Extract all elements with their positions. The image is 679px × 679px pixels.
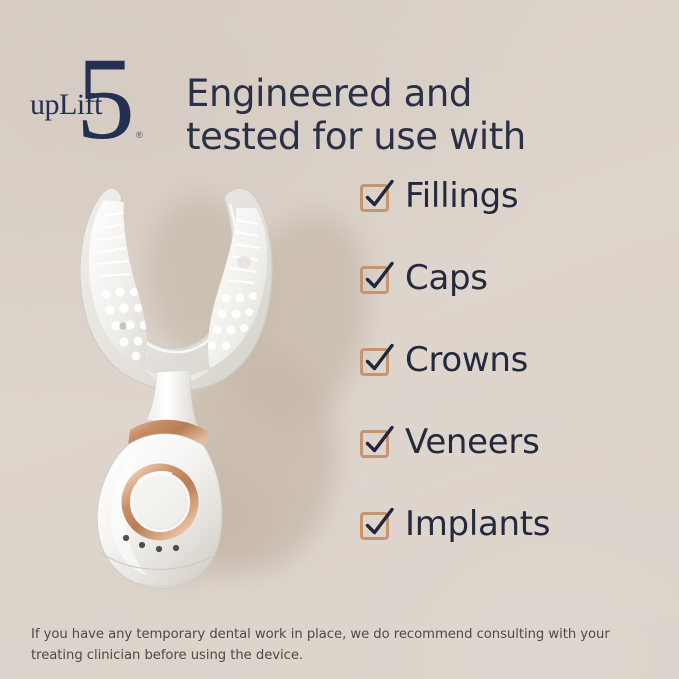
disclaimer-text: If you have any temporary dental work in… bbox=[31, 625, 643, 666]
list-item[interactable]: Veneers bbox=[361, 424, 661, 460]
logo-registered-mark: ® bbox=[136, 130, 143, 140]
list-item[interactable]: Fillings bbox=[361, 178, 661, 214]
brand-logo: 5 upLift ® bbox=[24, 34, 164, 146]
checkbox-checked-icon[interactable] bbox=[361, 510, 389, 538]
product-feature-card: 5 upLift ® Engineered and tested for use… bbox=[0, 0, 679, 679]
checkbox-checked-icon[interactable] bbox=[361, 264, 389, 292]
list-item-label: Caps bbox=[405, 261, 488, 295]
checkbox-checked-icon[interactable] bbox=[361, 182, 389, 210]
list-item[interactable]: Crowns bbox=[361, 342, 661, 378]
product-image bbox=[60, 182, 300, 512]
logo-wordmark: upLift bbox=[30, 88, 103, 121]
checkbox-checked-icon[interactable] bbox=[361, 346, 389, 374]
list-item-label: Implants bbox=[405, 507, 550, 541]
list-item[interactable]: Implants bbox=[361, 506, 661, 542]
page-title: Engineered and tested for use with bbox=[186, 72, 586, 159]
list-item-label: Fillings bbox=[405, 179, 518, 213]
list-item[interactable]: Caps bbox=[361, 260, 661, 296]
compatibility-checklist: Fillings Caps Crowns bbox=[361, 178, 661, 542]
list-item-label: Crowns bbox=[405, 343, 528, 377]
list-item-label: Veneers bbox=[405, 425, 540, 459]
checkbox-checked-icon[interactable] bbox=[361, 428, 389, 456]
